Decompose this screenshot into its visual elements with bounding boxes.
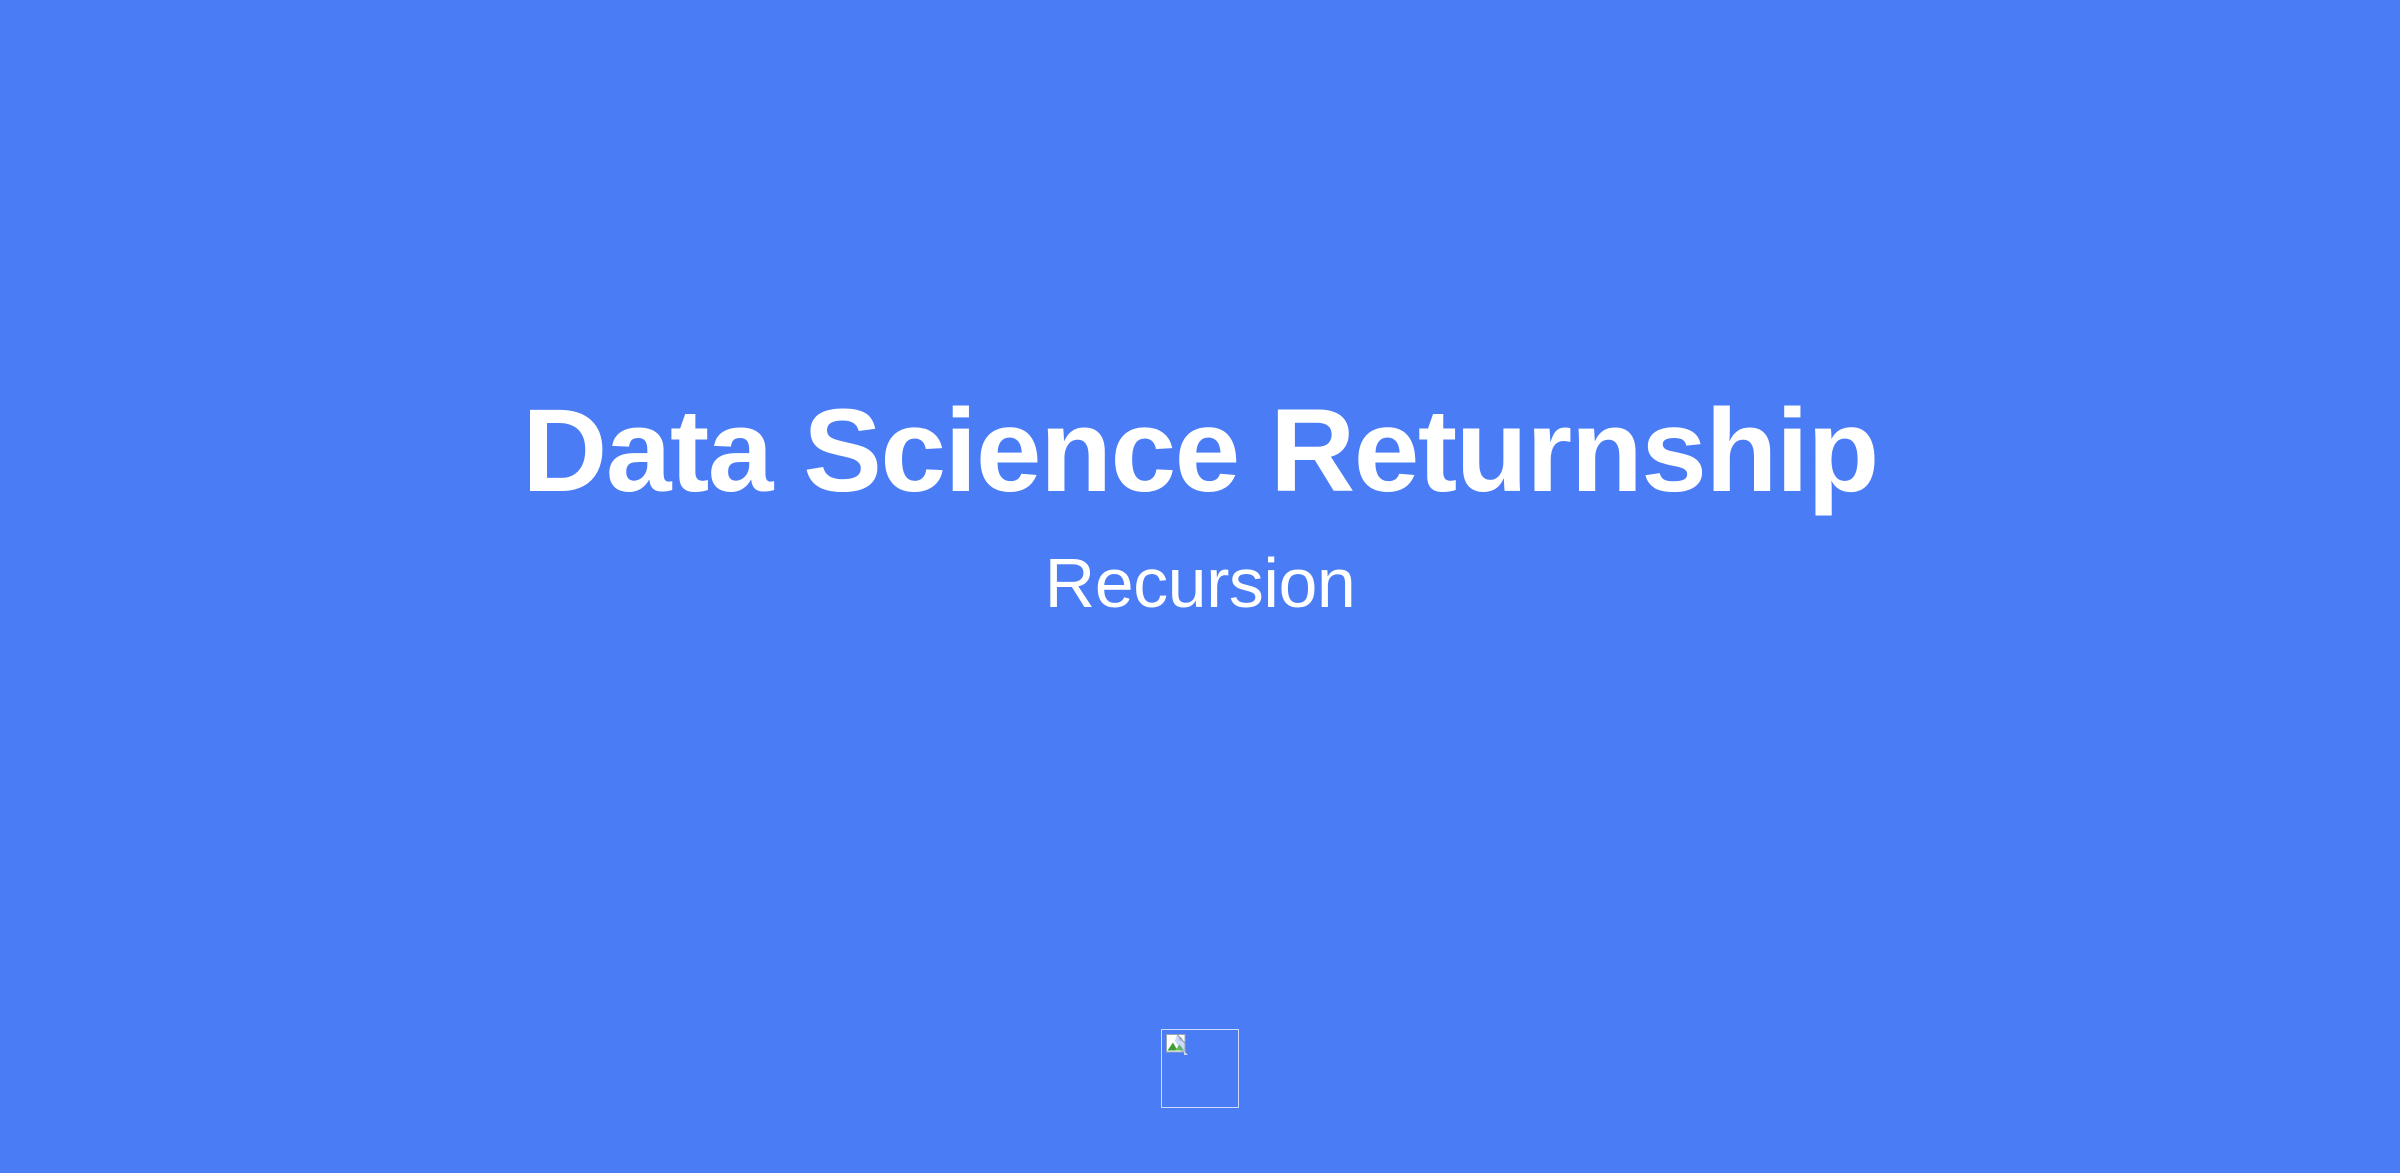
broken-image-placeholder[interactable] <box>1161 1029 1239 1108</box>
page-subtitle: Recursion <box>0 548 2400 618</box>
presentation-slide: Data Science Returnship Recursion <box>0 0 2400 1173</box>
page-title: Data Science Returnship <box>0 392 2400 510</box>
broken-image-icon <box>1164 1032 1190 1058</box>
